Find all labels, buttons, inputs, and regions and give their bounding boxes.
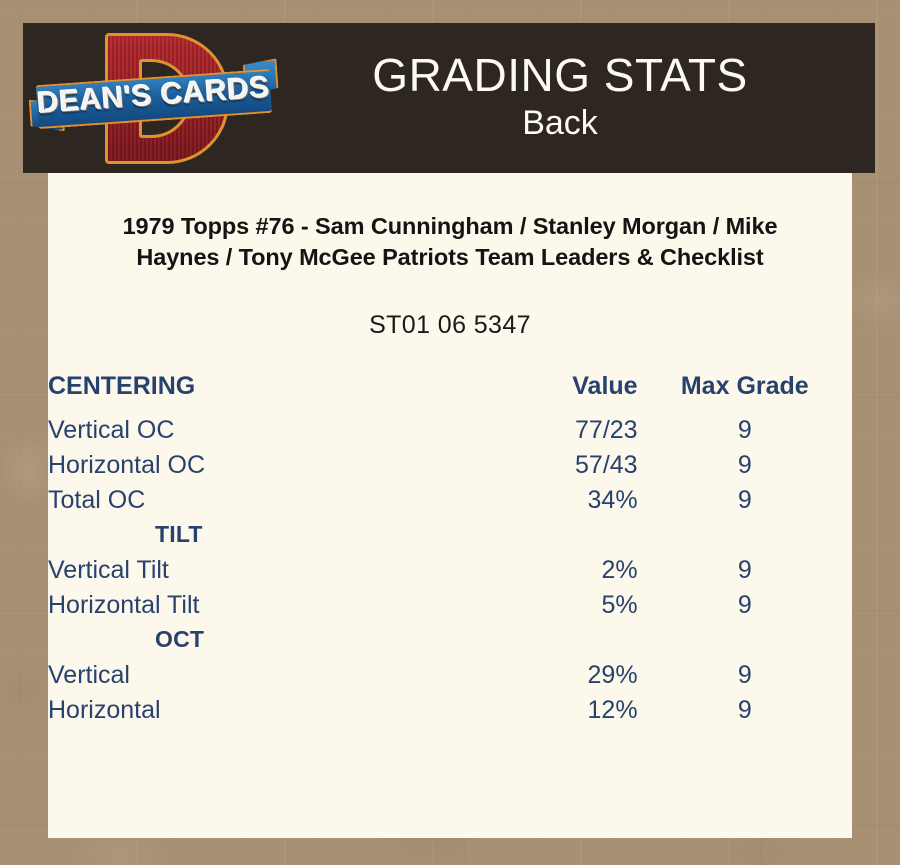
page-subtitle: Back (285, 102, 835, 145)
row-value: 77/23 (434, 416, 638, 451)
section-label: OCT (48, 626, 434, 661)
column-header-value: Value (434, 372, 638, 416)
row-max-grade: 9 (638, 416, 852, 451)
table-body: Vertical OC 77/23 9 Horizontal OC 57/43 … (48, 416, 852, 731)
row-label: Horizontal (48, 696, 434, 731)
column-header-max-grade: Max Grade (638, 372, 852, 416)
logo-ribbon-banner-icon: DEAN'S CARDS (27, 62, 280, 137)
deans-cards-logo[interactable]: DEAN'S CARDS (23, 23, 285, 173)
header-titles: GRADING STATS Back (285, 52, 875, 144)
row-max-grade: 9 (638, 661, 852, 696)
table-row: Vertical Tilt 2% 9 (48, 556, 852, 591)
section-label: TILT (48, 521, 434, 556)
section-spacer-value (434, 626, 638, 661)
page-title: GRADING STATS (285, 52, 835, 100)
grading-stats-page: DEAN'S CARDS GRADING STATS Back 1979 Top… (0, 0, 900, 865)
row-max-grade: 9 (638, 486, 852, 521)
row-label: Total OC (48, 486, 434, 521)
column-header-section: CENTERING (48, 372, 434, 416)
row-value: 29% (434, 661, 638, 696)
header-bar: DEAN'S CARDS GRADING STATS Back (23, 23, 875, 173)
table-section-header-tilt: TILT (48, 521, 852, 556)
row-max-grade: 9 (638, 451, 852, 486)
row-value: 12% (434, 696, 638, 731)
table-section-header-oct: OCT (48, 626, 852, 661)
grading-stats-table: CENTERING Value Max Grade Vertical OC 77… (48, 372, 852, 731)
table-row: Total OC 34% 9 (48, 486, 852, 521)
card-description: 1979 Topps #76 - Sam Cunningham / Stanle… (100, 211, 800, 273)
row-label: Vertical OC (48, 416, 434, 451)
row-max-grade: 9 (638, 591, 852, 626)
stats-panel: 1979 Topps #76 - Sam Cunningham / Stanle… (48, 173, 852, 838)
table-row: Horizontal Tilt 5% 9 (48, 591, 852, 626)
table-header: CENTERING Value Max Grade (48, 372, 852, 416)
row-value: 34% (434, 486, 638, 521)
row-label: Vertical (48, 661, 434, 696)
table-header-row: CENTERING Value Max Grade (48, 372, 852, 416)
row-label: Vertical Tilt (48, 556, 434, 591)
row-label: Horizontal OC (48, 451, 434, 486)
row-value: 2% (434, 556, 638, 591)
table-row: Vertical 29% 9 (48, 661, 852, 696)
table-row: Horizontal 12% 9 (48, 696, 852, 731)
row-value: 5% (434, 591, 638, 626)
row-value: 57/43 (434, 451, 638, 486)
row-max-grade: 9 (638, 556, 852, 591)
card-serial-number: ST01 06 5347 (48, 311, 852, 340)
table-row: Vertical OC 77/23 9 (48, 416, 852, 451)
row-label: Horizontal Tilt (48, 591, 434, 626)
row-max-grade: 9 (638, 696, 852, 731)
table-row: Horizontal OC 57/43 9 (48, 451, 852, 486)
section-spacer-grade (638, 521, 852, 556)
section-spacer-value (434, 521, 638, 556)
section-spacer-grade (638, 626, 852, 661)
